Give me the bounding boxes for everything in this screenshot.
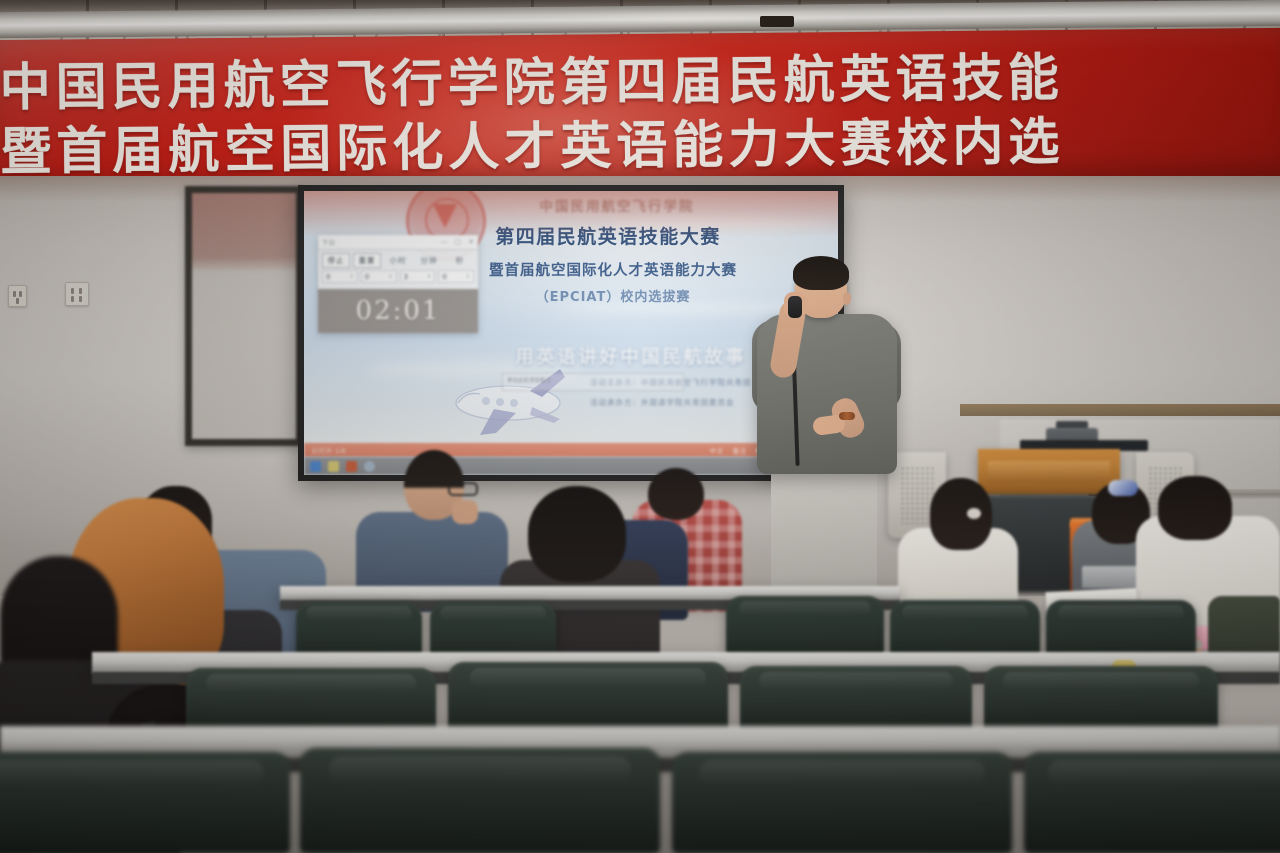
chair-b4 xyxy=(890,600,1040,658)
chair-b2 xyxy=(430,602,556,658)
chair-highlight xyxy=(306,606,412,621)
presenter-right-ear xyxy=(843,292,851,305)
chair-f1 xyxy=(0,752,290,853)
handheld-microphone xyxy=(788,296,802,318)
chair-highlight xyxy=(0,760,264,786)
chair-f4 xyxy=(1024,752,1280,853)
chair-highlight xyxy=(440,606,546,621)
chair-highlight xyxy=(699,760,985,786)
chair-b3 xyxy=(726,596,884,656)
lectern-front-panel xyxy=(988,461,1110,483)
classroom-photo-scene: 中国民用航空飞行学院第四届民航英语技能 暨首届航空国际化人才英语能力大赛校内选 xyxy=(0,0,1280,853)
beaded-bracelet xyxy=(839,412,855,420)
banner-line-1: 中国民用航空飞行学院第四届民航英语技能 xyxy=(0,46,1280,120)
chair-highlight xyxy=(759,672,954,691)
presenter-hair xyxy=(793,256,849,290)
some-tee-graphic xyxy=(1082,566,1144,588)
eyeglasses-icon xyxy=(448,482,478,496)
hair-clip-icon xyxy=(967,508,981,519)
wooden-lectern xyxy=(978,449,1120,495)
chair-b5 xyxy=(1046,600,1196,658)
chair-f2 xyxy=(300,748,660,853)
student-white-shirt-head xyxy=(1158,476,1232,540)
chair-highlight xyxy=(739,601,872,617)
speaker-grille xyxy=(900,466,934,524)
chair-b1 xyxy=(296,602,422,658)
chair-highlight xyxy=(1048,760,1280,786)
chair-highlight xyxy=(470,668,705,688)
ceiling-mount-box xyxy=(760,16,794,27)
student-white-top-head xyxy=(930,478,992,550)
student-plaid-head xyxy=(648,468,704,520)
student-center-head xyxy=(528,486,626,582)
red-event-banner: 中国民用航空飞行学院第四届民航英语技能 暨首届航空国际化人才英语能力大赛校内选 xyxy=(0,28,1280,191)
banner-line-2: 暨首届航空国际化人才英语能力大赛校内选 xyxy=(0,110,1280,184)
chair-highlight xyxy=(1003,672,1200,691)
chair-highlight xyxy=(902,605,1028,620)
blue-scrunchie-icon xyxy=(1108,480,1138,496)
chair-f3 xyxy=(672,752,1012,853)
chair-highlight xyxy=(1058,605,1184,620)
presenter-pants xyxy=(771,468,877,588)
student-glasses-hand xyxy=(452,500,478,524)
chair-highlight xyxy=(206,674,416,692)
chair-highlight xyxy=(329,756,631,783)
